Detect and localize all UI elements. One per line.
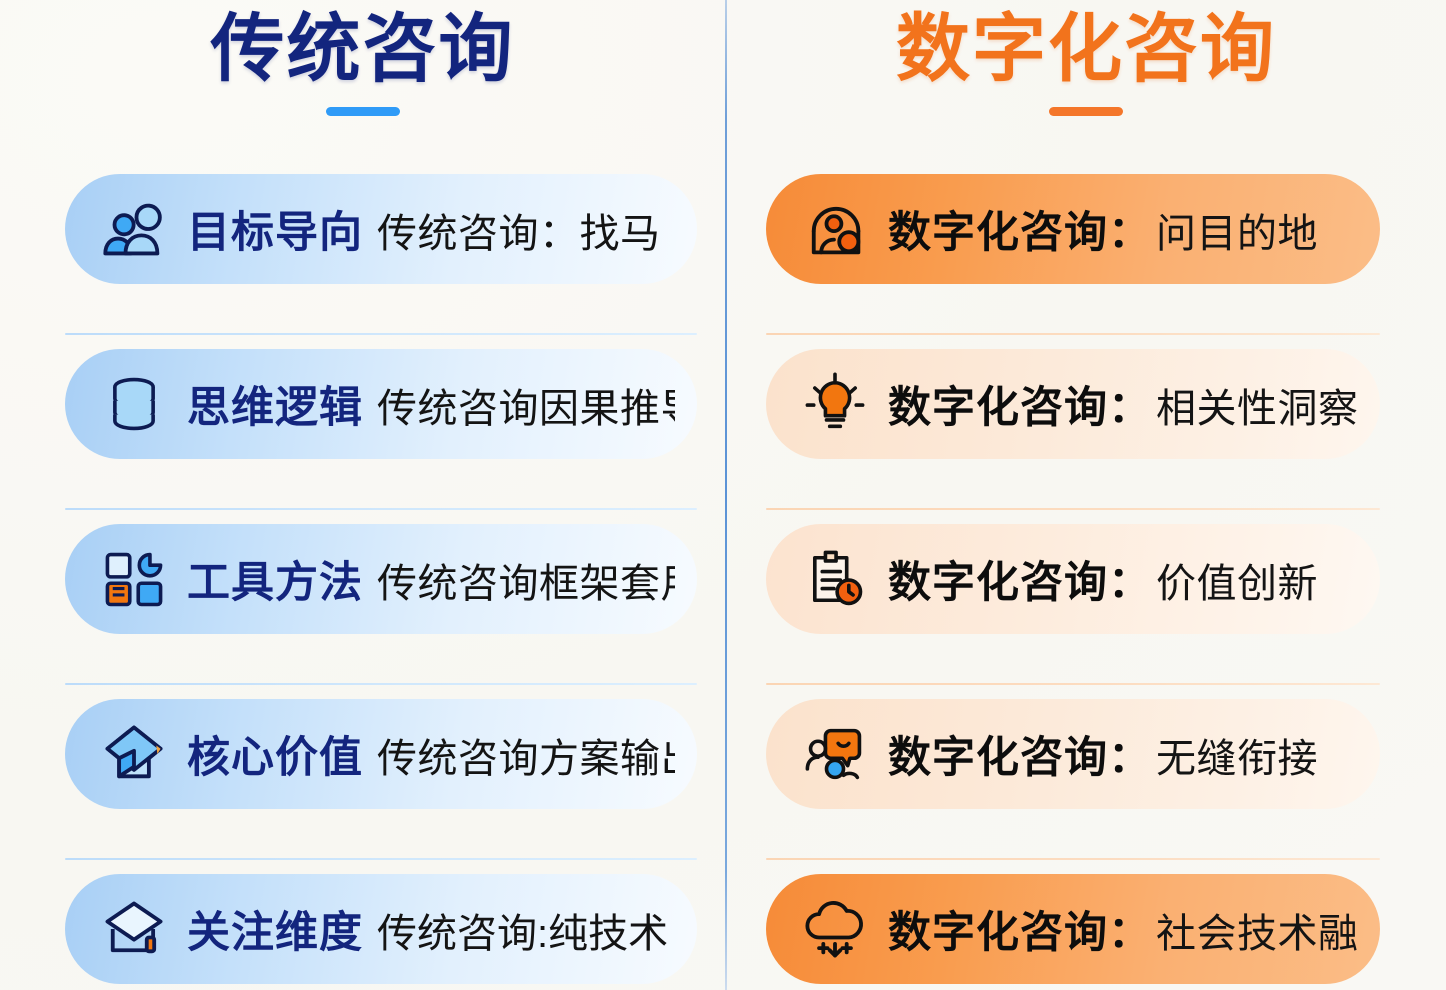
left-card-3-description: 传统咨询框架套用 <box>377 551 675 609</box>
left-card-1-description: 传统咨询：找马 <box>377 201 661 259</box>
right-card-2-description: 相关性洞察 <box>1156 376 1358 434</box>
left-card-2-text: 思维逻辑 传统咨询因果推导 <box>187 373 675 435</box>
list-item: 关注维度 传统咨询:纯技术 <box>0 860 725 990</box>
left-card-3-keyword: 工具方法 <box>187 548 363 610</box>
left-card-1-text: 目标导向 传统咨询：找马 <box>187 198 661 260</box>
left-card-5-description: 传统咨询:纯技术 <box>377 901 668 959</box>
list-item: 数字化咨询： 无缝衔接 <box>726 685 1446 860</box>
left-card-5-keyword: 关注维度 <box>187 898 363 960</box>
left-column-header: 传统咨询 <box>0 0 725 116</box>
left-card-3-text: 工具方法 传统咨询框架套用 <box>187 548 675 610</box>
graduation-book-icon <box>95 890 173 968</box>
left-card-4-text: 核心价值 传统咨询方案输出 <box>187 723 675 785</box>
right-card-5-description: 社会技术融合 <box>1156 901 1358 959</box>
left-card-2-keyword: 思维逻辑 <box>187 373 363 435</box>
right-card-5-keyword: 数字化咨询： <box>888 898 1152 960</box>
list-item: 数字化咨询： 问目的地 <box>726 160 1446 335</box>
right-card-4-keyword: 数字化咨询： <box>888 723 1152 785</box>
right-column: 数字化咨询 <box>726 0 1446 116</box>
left-card-5-text: 关注维度 传统咨询:纯技术 <box>187 898 668 960</box>
left-card-2[interactable]: 思维逻辑 传统咨询因果推导 <box>65 349 697 459</box>
right-card-5[interactable]: 数字化咨询： 社会技术融合 <box>766 874 1380 984</box>
database-stack-icon <box>95 365 173 443</box>
left-card-1-keyword: 目标导向 <box>187 198 363 260</box>
right-column-header: 数字化咨询 <box>726 0 1446 116</box>
left-card-2-description: 传统咨询因果推导 <box>377 376 675 434</box>
clipboard-clock-icon <box>796 540 874 618</box>
right-card-4-description: 无缝衔接 <box>1156 726 1318 784</box>
left-card-4[interactable]: 核心价值 传统咨询方案输出 <box>65 699 697 809</box>
right-card-3-keyword: 数字化咨询： <box>888 548 1152 610</box>
right-card-2[interactable]: 数字化咨询： 相关性洞察 <box>766 349 1380 459</box>
right-card-2-keyword: 数字化咨询： <box>888 373 1152 435</box>
right-title-underline <box>1049 107 1123 116</box>
right-card-1-keyword: 数字化咨询： <box>888 198 1152 260</box>
left-card-list: 目标导向 传统咨询：找马 <box>0 160 725 990</box>
left-title-underline <box>326 107 400 116</box>
right-card-3-text: 数字化咨询： 价值创新 <box>888 548 1318 610</box>
chat-people-icon <box>796 715 874 793</box>
list-item: 核心价值 传统咨询方案输出 <box>0 685 725 860</box>
right-card-5-text: 数字化咨询： 社会技术融合 <box>888 898 1358 960</box>
graduation-cap-icon <box>95 715 173 793</box>
right-card-4-text: 数字化咨询： 无缝衔接 <box>888 723 1318 785</box>
infographic-page: 传统咨询 <box>0 0 1446 990</box>
left-card-1[interactable]: 目标导向 传统咨询：找马 <box>65 174 697 284</box>
right-card-3-description: 价值创新 <box>1156 551 1318 609</box>
right-card-1-text: 数字化咨询： 问目的地 <box>888 198 1318 260</box>
cloud-download-icon <box>796 890 874 968</box>
left-card-5[interactable]: 关注维度 传统咨询:纯技术 <box>65 874 697 984</box>
left-column-title: 传统咨询 <box>0 8 725 91</box>
left-card-4-keyword: 核心价值 <box>187 723 363 785</box>
right-card-3[interactable]: 数字化咨询： 价值创新 <box>766 524 1380 634</box>
right-card-4[interactable]: 数字化咨询： 无缝衔接 <box>766 699 1380 809</box>
list-item: 思维逻辑 传统咨询因果推导 <box>0 335 725 510</box>
list-item: 目标导向 传统咨询：找马 <box>0 160 725 335</box>
right-column-title: 数字化咨询 <box>726 8 1446 91</box>
user-avatar-icon <box>796 190 874 268</box>
left-card-4-description: 传统咨询方案输出 <box>377 726 675 784</box>
lightbulb-icon <box>796 365 874 443</box>
right-card-list: 数字化咨询： 问目的地 <box>726 160 1446 990</box>
list-item: 数字化咨询： 价值创新 <box>726 510 1446 685</box>
left-column: 传统咨询 <box>0 0 725 116</box>
left-card-3[interactable]: 工具方法 传统咨询框架套用 <box>65 524 697 634</box>
tool-blocks-icon <box>95 540 173 618</box>
right-card-2-text: 数字化咨询： 相关性洞察 <box>888 373 1358 435</box>
right-card-1[interactable]: 数字化咨询： 问目的地 <box>766 174 1380 284</box>
right-card-1-description: 问目的地 <box>1156 201 1318 259</box>
list-item: 工具方法 传统咨询框架套用 <box>0 510 725 685</box>
list-item: 数字化咨询： 相关性洞察 <box>726 335 1446 510</box>
list-item: 数字化咨询： 社会技术融合 <box>726 860 1446 990</box>
two-people-icon <box>95 190 173 268</box>
